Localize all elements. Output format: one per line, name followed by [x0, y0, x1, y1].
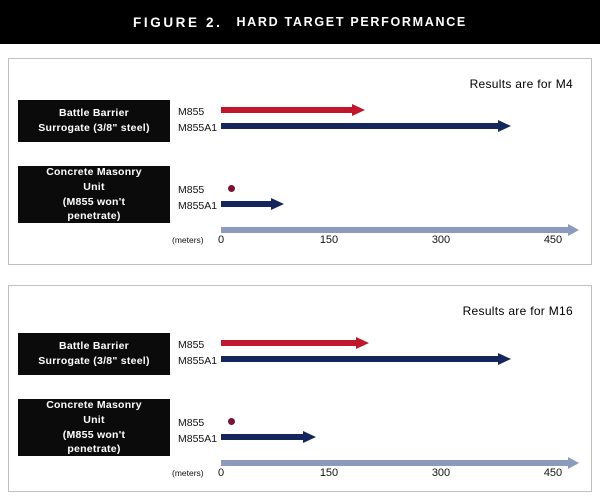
target-label-line3: (M855 won't: [63, 428, 125, 443]
series-label-m855-cmu-m4: M855: [178, 184, 204, 196]
bar-shaft: [221, 107, 352, 113]
bar-arrowhead: [498, 353, 511, 365]
bar-shaft: [221, 434, 303, 440]
x-axis-m16: [221, 460, 579, 466]
bar-shaft: [221, 356, 498, 362]
chart-panel-m16: Results are for M16 Battle Barrier Surro…: [8, 285, 592, 492]
chart-panel-m4: Results are for M4 Battle Barrier Surrog…: [8, 58, 592, 265]
target-label-battle-barrier: Battle Barrier Surrogate (3/8" steel): [18, 100, 170, 142]
bar-arrowhead: [356, 337, 369, 349]
target-label-battle-barrier: Battle Barrier Surrogate (3/8" steel): [18, 333, 170, 375]
axis-tick-0-m4: 0: [201, 234, 241, 246]
bar-shaft: [221, 123, 498, 129]
bar-m855a1-concrete-masonry-m16: [221, 434, 316, 440]
target-label-line3: (M855 won't: [63, 195, 125, 210]
bar-m855a1-concrete-masonry-m4: [221, 201, 284, 207]
axis-shaft: [221, 227, 568, 233]
bar-arrowhead: [352, 104, 365, 116]
bar-m855a1-battle-barrier-m16: [221, 356, 511, 362]
figure-banner: FIGURE 2. HARD TARGET PERFORMANCE: [0, 0, 600, 44]
bar-shaft: [221, 201, 271, 207]
target-label-line2: Surrogate (3/8" steel): [38, 354, 149, 369]
target-label-line2: Surrogate (3/8" steel): [38, 121, 149, 136]
bar-arrowhead: [303, 431, 316, 443]
target-label-line1: Concrete Masonry: [46, 165, 142, 180]
bar-shaft: [221, 340, 356, 346]
target-label-line4: penetrate): [67, 442, 120, 457]
target-label-line4: penetrate): [67, 209, 120, 224]
bar-m855-battle-barrier-m16: [221, 340, 369, 346]
axis-tick-150-m4: 150: [309, 234, 349, 246]
figure-title: HARD TARGET PERFORMANCE: [236, 15, 467, 29]
target-label-line1: Battle Barrier: [59, 106, 129, 121]
results-label-m4: Results are for M4: [470, 77, 573, 91]
series-label-m855a1-bb-m16: M855A1: [178, 355, 217, 367]
axis-units-label-m16: (meters): [172, 468, 204, 478]
target-label-line1: Battle Barrier: [59, 339, 129, 354]
target-label-line2: Unit: [83, 413, 104, 428]
axis-tick-150-m16: 150: [309, 467, 349, 479]
series-label-m855-bb-m16: M855: [178, 339, 204, 351]
target-label-concrete-masonry: Concrete Masonry Unit (M855 won't penetr…: [18, 399, 170, 456]
bar-arrowhead: [271, 198, 284, 210]
figure-number: FIGURE 2.: [133, 15, 222, 30]
series-label-m855a1-bb-m4: M855A1: [178, 122, 217, 134]
axis-tick-300-m4: 300: [421, 234, 461, 246]
bar-m855-battle-barrier-m4: [221, 107, 365, 113]
bar-arrowhead: [498, 120, 511, 132]
series-label-m855a1-cmu-m16: M855A1: [178, 433, 217, 445]
target-label-line2: Unit: [83, 180, 104, 195]
target-label-concrete-masonry: Concrete Masonry Unit (M855 won't penetr…: [18, 166, 170, 223]
x-axis-m4: [221, 227, 579, 233]
axis-tick-0-m16: 0: [201, 467, 241, 479]
results-label-m16: Results are for M16: [463, 304, 573, 318]
marker-m855-zero-cmu-m16: [228, 418, 235, 425]
marker-m855-zero-cmu-m4: [228, 185, 235, 192]
series-label-m855-bb-m4: M855: [178, 106, 204, 118]
axis-units-label-m4: (meters): [172, 235, 204, 245]
axis-tick-450-m16: 450: [533, 467, 573, 479]
axis-tick-450-m4: 450: [533, 234, 573, 246]
series-label-m855-cmu-m16: M855: [178, 417, 204, 429]
axis-shaft: [221, 460, 568, 466]
bar-m855a1-battle-barrier-m4: [221, 123, 511, 129]
target-label-line1: Concrete Masonry: [46, 398, 142, 413]
series-label-m855a1-cmu-m4: M855A1: [178, 200, 217, 212]
axis-tick-300-m16: 300: [421, 467, 461, 479]
